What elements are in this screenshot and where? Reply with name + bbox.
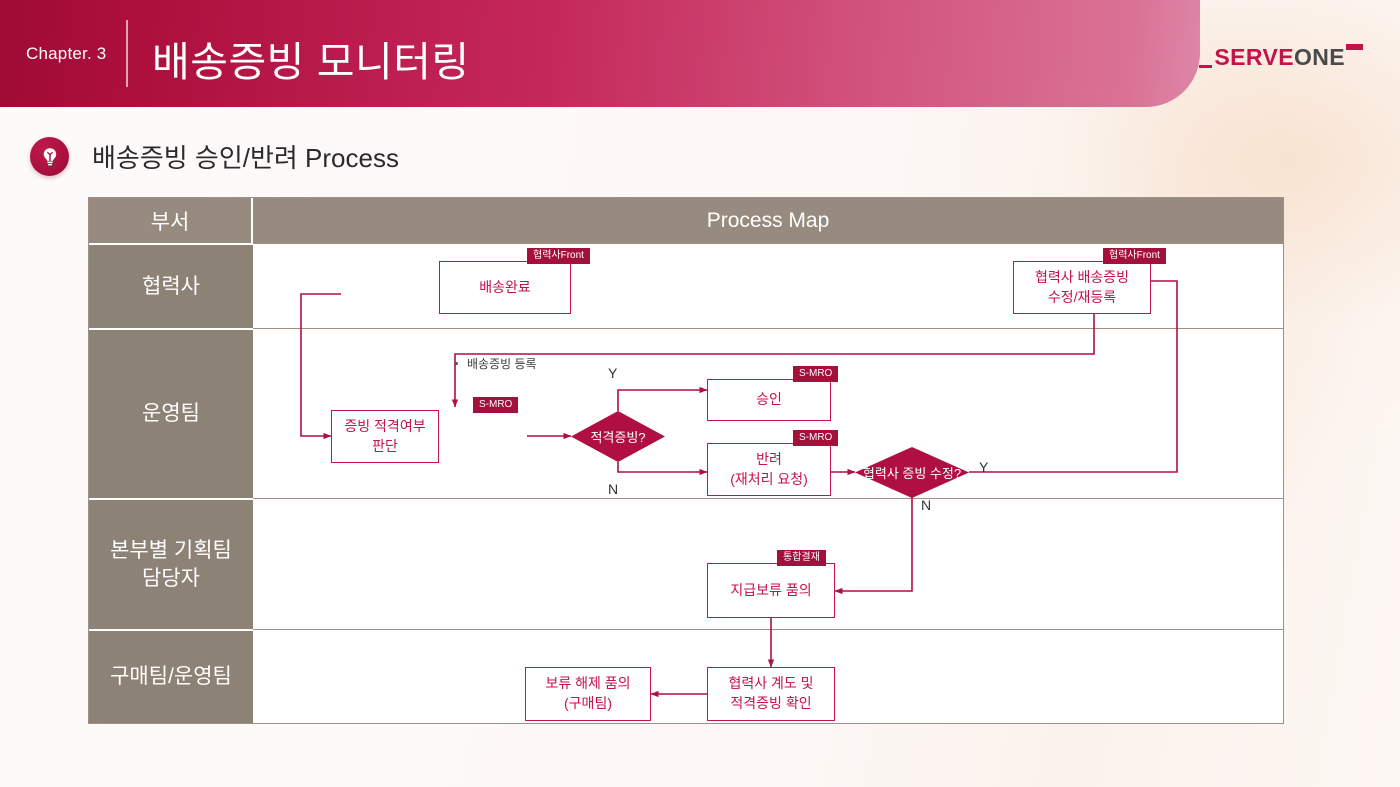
header-divider	[126, 20, 128, 87]
row-label-operation-team: 운영팀	[89, 328, 253, 498]
serveone-logo: SERVEONE	[1199, 44, 1362, 71]
slide-root: Chapter. 3 배송증빙 모니터링 SERVEONE 배송증빙 승인/반려…	[0, 0, 1400, 787]
logo-text-one: ONE	[1294, 44, 1345, 71]
row-label-division-planning-text: 본부별 기획팀 담당자	[110, 537, 232, 592]
section-heading: 배송증빙 승인/반려 Process	[30, 137, 399, 176]
process-map-table: 부서 Process Map 협력사 운영팀 본부별 기획팀 담당자 구매팀/운…	[88, 197, 1284, 724]
column-header-process-map: Process Map	[253, 198, 1283, 243]
column-header-department: 부서	[89, 198, 253, 243]
row-label-division-planning: 본부별 기획팀 담당자	[89, 498, 253, 629]
table-header-row: 부서 Process Map	[89, 198, 1283, 243]
lightbulb-icon	[30, 137, 69, 176]
page-title: 배송증빙 모니터링	[152, 28, 470, 88]
logo-underscore-mark	[1199, 65, 1212, 68]
row-body-operation-team	[253, 328, 1283, 498]
row-body-division-planning	[253, 498, 1283, 629]
section-title: 배송증빙 승인/반려 Process	[92, 138, 399, 175]
chapter-label: Chapter. 3	[26, 44, 106, 64]
row-body-purchase-operation	[253, 629, 1283, 723]
row-label-purchase-operation: 구매팀/운영팀	[89, 629, 253, 723]
logo-text-serve: SERVE	[1214, 44, 1294, 71]
row-label-partner: 협력사	[89, 243, 253, 328]
row-body-partner	[253, 243, 1283, 328]
logo-tick-mark	[1346, 44, 1363, 50]
slide-header-bar: Chapter. 3 배송증빙 모니터링	[0, 0, 1200, 107]
